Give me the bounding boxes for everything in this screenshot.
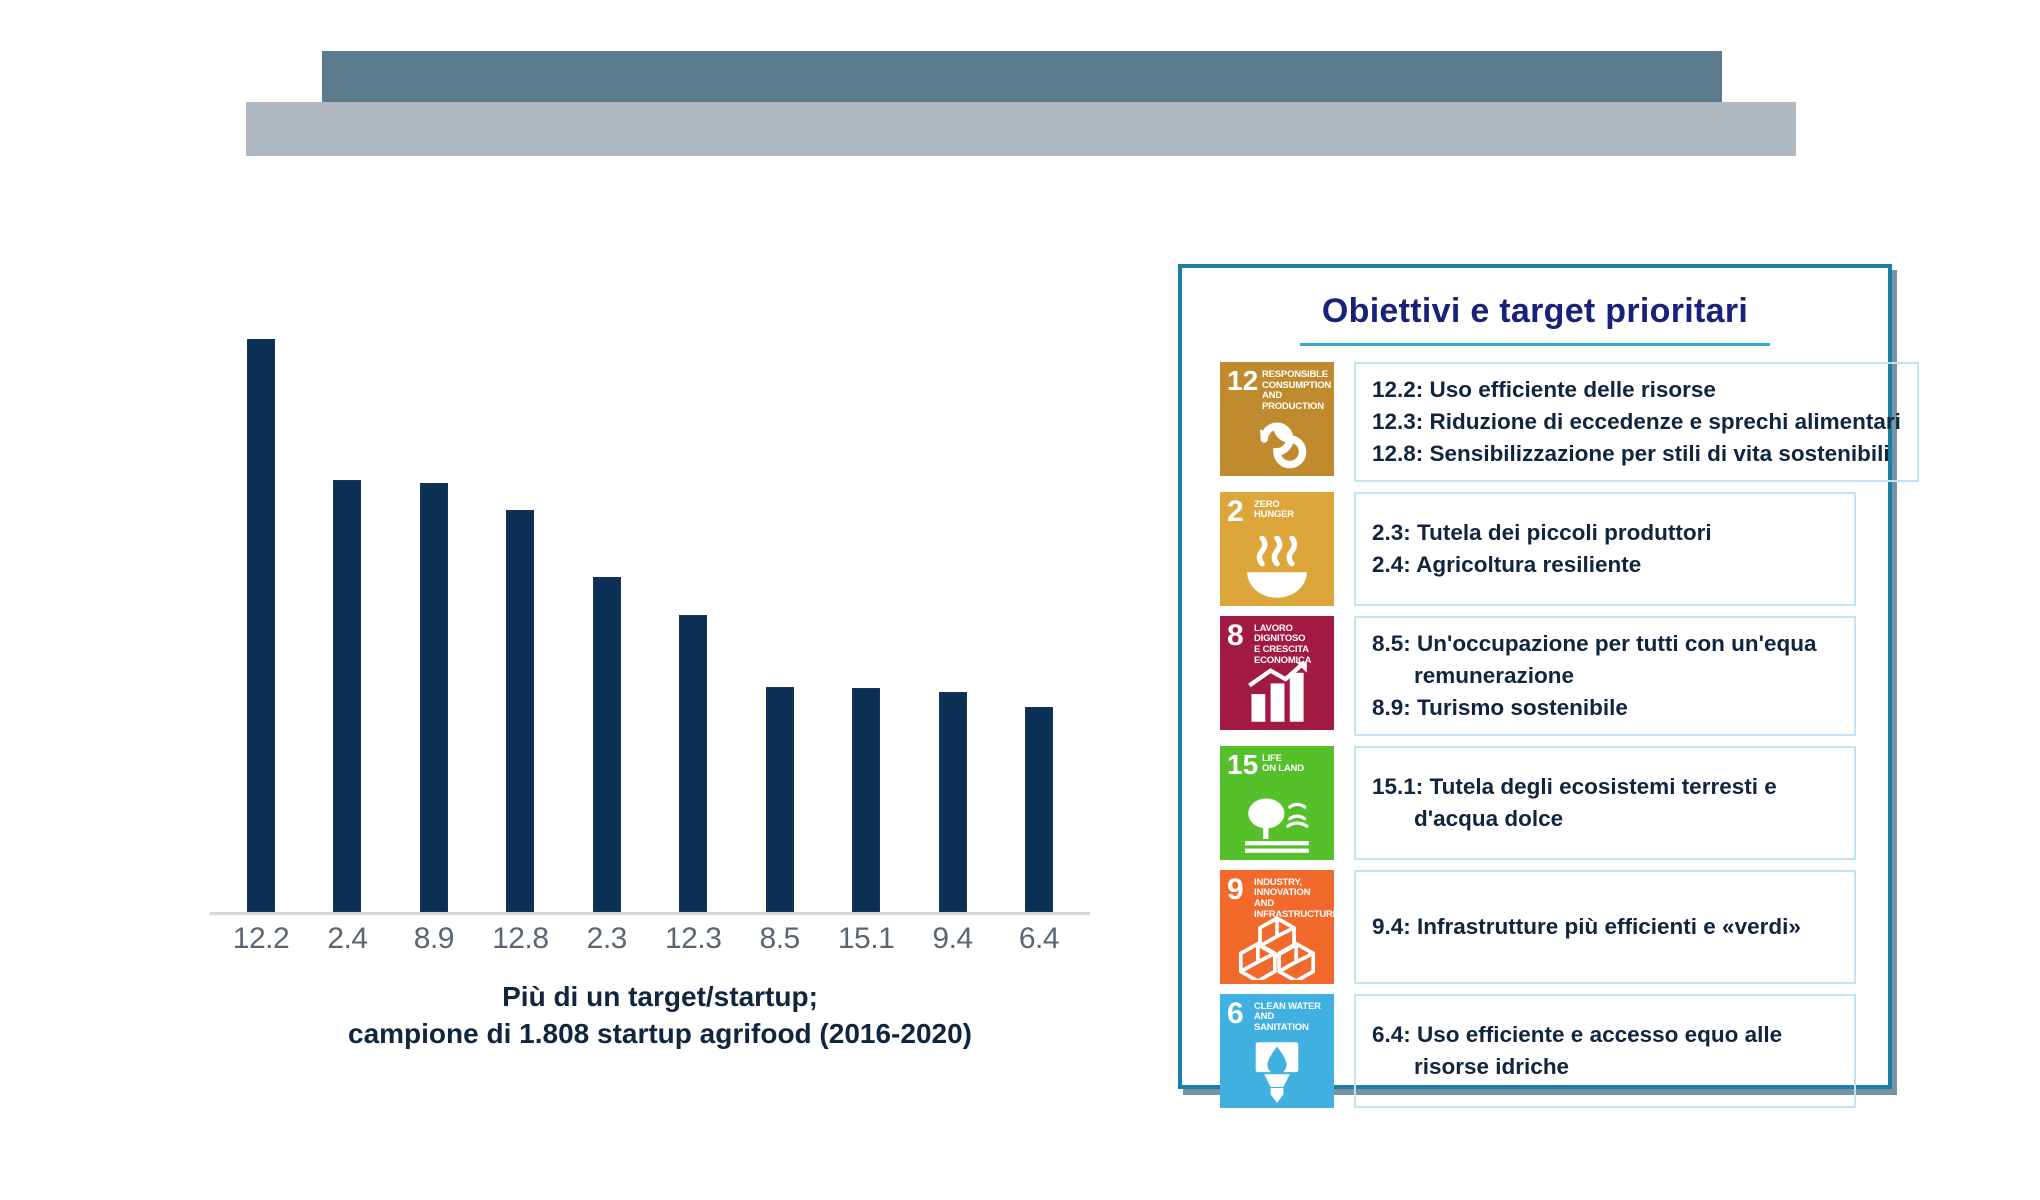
sdg-goal-list: 12RESPONSIBLE CONSUMPTION AND PRODUCTION… [1182, 346, 1888, 1126]
sdg-target-line: d'acqua dolce [1372, 803, 1777, 835]
chart-tick-label: 8.9 [397, 922, 471, 956]
chart-tick-label: 2.4 [310, 922, 384, 956]
chart-x-axis-line [210, 912, 1090, 915]
sdg-goal-number: 2 [1227, 497, 1244, 527]
chart-tick-label: 9.4 [916, 922, 990, 956]
chart-tick-label: 6.4 [1002, 922, 1076, 956]
sdg-goal-caption: LIFE ON LAND [1262, 754, 1331, 775]
sdg-goal-row: 6CLEAN WATER AND SANITATION 6.4: Uso eff… [1220, 994, 1856, 1108]
chart-bar-slot [570, 300, 644, 912]
sdg-9-industry-innovation-icon-glyph [1220, 914, 1334, 980]
sdg-target-text: 12.2: Uso efficiente delle risorse12.3: … [1372, 374, 1901, 470]
sdg-goal-number: 6 [1227, 999, 1244, 1029]
sdg-goal-number: 9 [1227, 875, 1244, 905]
sdg-goal-number: 12 [1227, 367, 1258, 395]
sdg-6-clean-water-icon-glyph [1220, 1038, 1334, 1104]
sdg-12-responsible-consumption-icon: 12RESPONSIBLE CONSUMPTION AND PRODUCTION [1220, 362, 1334, 476]
sdg-2-zero-hunger-icon: 2ZERO HUNGER [1220, 492, 1334, 606]
sdg-8-decent-work-icon: 8LAVORO DIGNITOSO E CRESCITA ECONOMICA [1220, 616, 1334, 730]
chart-plot-area [210, 300, 1090, 912]
chart-bar-slot [916, 300, 990, 912]
chart-tick-label: 15.1 [829, 922, 903, 956]
chart-bar[interactable] [593, 577, 621, 912]
sdg-target-line: 12.3: Riduzione di eccedenze e sprechi a… [1372, 406, 1901, 438]
sdg-2-zero-hunger-icon-glyph [1220, 536, 1334, 602]
sdg-target-text: 2.3: Tutela dei piccoli produttori2.4: A… [1372, 517, 1712, 581]
sdg-target-line: 6.4: Uso efficiente e accesso equo alle [1372, 1019, 1782, 1051]
chart-caption-line: Più di un target/startup; [210, 978, 1110, 1015]
chart-bar-slot [397, 300, 471, 912]
sdg-target-box: 6.4: Uso efficiente e accesso equo aller… [1354, 994, 1856, 1108]
sdg-goal-caption: ZERO HUNGER [1254, 500, 1331, 521]
sdg-target-box: 9.4: Infrastrutture più efficienti e «ve… [1354, 870, 1856, 984]
chart-bar[interactable] [1025, 707, 1053, 912]
chart-bar[interactable] [247, 339, 275, 912]
chart-tick-label: 8.5 [743, 922, 817, 956]
sdg-12-responsible-consumption-icon-glyph [1220, 406, 1334, 472]
sdg-15-life-on-land-icon-glyph [1220, 790, 1334, 856]
sdg-goal-number: 8 [1227, 621, 1244, 651]
chart-bar-slot [743, 300, 817, 912]
sdg-goal-row: 15LIFE ON LAND 15.1: Tutela degli ecosis… [1220, 746, 1856, 860]
chart-tick-label: 12.8 [483, 922, 557, 956]
chart-bar-slot [656, 300, 730, 912]
sdg-target-box: 12.2: Uso efficiente delle risorse12.3: … [1354, 362, 1919, 482]
chart-bar-slot [1002, 300, 1076, 912]
chart-bar[interactable] [939, 692, 967, 912]
chart-bar[interactable] [333, 480, 361, 912]
chart-tick-label: 12.2 [224, 922, 298, 956]
chart-bar[interactable] [679, 615, 707, 912]
sdg-goal-row: 9INDUSTRY, INNOVATION AND INFRASTRUCTURE… [1220, 870, 1856, 984]
chart-caption-line: campione di 1.808 startup agrifood (2016… [210, 1015, 1110, 1052]
chart-caption: Più di un target/startup;campione di 1.8… [210, 978, 1110, 1052]
sdg-goal-row: 8LAVORO DIGNITOSO E CRESCITA ECONOMICA 8… [1220, 616, 1856, 736]
chart-bar-slot [483, 300, 557, 912]
sdg-target-text: 8.5: Un'occupazione per tutti con un'equ… [1372, 628, 1817, 724]
chart-bar-slot [224, 300, 298, 912]
sdg-target-box: 15.1: Tutela degli ecosistemi terresti e… [1354, 746, 1856, 860]
sdg-goal-row: 12RESPONSIBLE CONSUMPTION AND PRODUCTION… [1220, 362, 1856, 482]
sdg-9-industry-innovation-icon: 9INDUSTRY, INNOVATION AND INFRASTRUCTURE [1220, 870, 1334, 984]
sdg-target-line: 8.9: Turismo sostenibile [1372, 692, 1817, 724]
chart-bar-slot [829, 300, 903, 912]
sdg-6-clean-water-icon: 6CLEAN WATER AND SANITATION [1220, 994, 1334, 1108]
sdg-target-line: 15.1: Tutela degli ecosistemi terresti e [1372, 771, 1777, 803]
sdg-target-box: 8.5: Un'occupazione per tutti con un'equ… [1354, 616, 1856, 736]
chart-bar-slot [310, 300, 384, 912]
sdg-target-box: 2.3: Tutela dei piccoli produttori2.4: A… [1354, 492, 1856, 606]
sdg-15-life-on-land-icon: 15LIFE ON LAND [1220, 746, 1334, 860]
chart-bar[interactable] [766, 687, 794, 912]
chart-bar[interactable] [852, 688, 880, 912]
sdg-goal-caption: CLEAN WATER AND SANITATION [1254, 1002, 1331, 1034]
sdg-target-text: 9.4: Infrastrutture più efficienti e «ve… [1372, 911, 1801, 943]
chart-bar[interactable] [506, 510, 534, 912]
header-bar-light [246, 102, 1796, 156]
chart-x-tick-labels: 12.22.48.912.82.312.38.515.19.46.4 [210, 922, 1090, 956]
sdg-target-text: 15.1: Tutela degli ecosistemi terresti e… [1372, 771, 1777, 835]
sdg-8-decent-work-icon-glyph [1220, 660, 1334, 726]
sdg-goal-row: 2ZERO HUNGER 2.3: Tutela dei piccoli pro… [1220, 492, 1856, 606]
sdg-target-line: 12.8: Sensibilizzazione per stili di vit… [1372, 438, 1901, 470]
chart-bar[interactable] [420, 483, 448, 912]
chart-tick-label: 12.3 [656, 922, 730, 956]
bar-chart: 12.22.48.912.82.312.38.515.19.46.4 Più d… [150, 300, 1150, 1000]
sdg-target-line: risorse idriche [1372, 1051, 1782, 1083]
panel-title: Obiettivi e target prioritari [1182, 292, 1888, 331]
priority-goals-panel: Obiettivi e target prioritari 12RESPONSI… [1178, 264, 1892, 1089]
slide-canvas: 12.22.48.912.82.312.38.515.19.46.4 Più d… [0, 0, 2040, 1200]
sdg-target-line: 2.4: Agricoltura resiliente [1372, 549, 1712, 581]
chart-tick-label: 2.3 [570, 922, 644, 956]
sdg-target-line: 12.2: Uso efficiente delle risorse [1372, 374, 1901, 406]
sdg-target-line: remunerazione [1372, 660, 1817, 692]
sdg-target-line: 9.4: Infrastrutture più efficienti e «ve… [1372, 911, 1801, 943]
sdg-target-line: 8.5: Un'occupazione per tutti con un'equ… [1372, 628, 1817, 660]
header-bar-dark [322, 51, 1722, 102]
sdg-target-line: 2.3: Tutela dei piccoli produttori [1372, 517, 1712, 549]
sdg-goal-number: 15 [1227, 751, 1258, 779]
sdg-target-text: 6.4: Uso efficiente e accesso equo aller… [1372, 1019, 1782, 1083]
